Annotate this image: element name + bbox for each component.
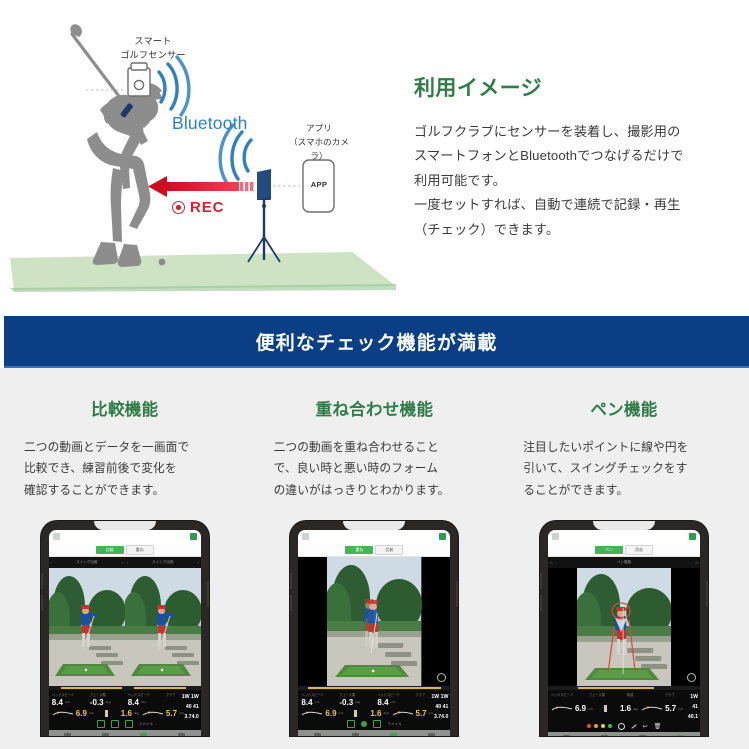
summary-club-value: 1W 1W: [182, 694, 199, 700]
volume-up-button-2[interactable]: [290, 573, 292, 589]
feature-1-line-3: の違いがはっきりとわかります。: [274, 484, 450, 497]
bottom-nav-overlay: [298, 730, 450, 736]
sensor-label-line1: スマート: [110, 34, 196, 48]
metric-cell-p-hs: 6.9 m/s: [548, 703, 593, 714]
video-icon-2[interactable]: [390, 733, 397, 736]
fullscreen-icon[interactable]: [125, 720, 133, 728]
status-bar-2: [298, 530, 450, 544]
feature-column-comparison: 比較機能 二つの動画とデータを一画面で 比較でき、練習前後で変化を 確認すること…: [0, 396, 250, 501]
status-bar-3: [548, 530, 700, 544]
overlay-mode-icon[interactable]: [361, 721, 367, 727]
metric-cell-p-face: 1.6 deg: [593, 703, 638, 714]
feature-1-line-1: 二つの動画を重ね合わせること: [274, 441, 439, 454]
volume-down-button[interactable]: [41, 595, 43, 611]
pen-tool-row: ↩ 🗑: [548, 721, 700, 732]
metric-value-hs-left: 8.4: [52, 698, 63, 707]
toggle-compare-on[interactable]: 比較: [96, 546, 124, 554]
page-title: 利用イメージ: [414, 72, 734, 102]
video-pen-clip[interactable]: [577, 568, 671, 686]
swing-path-graph-p1: [551, 704, 573, 713]
bottom-nav-pen: [548, 732, 700, 736]
mat-shape: [10, 252, 396, 292]
video-right[interactable]: [125, 568, 201, 686]
attack-angle-graph-p: [596, 704, 618, 713]
feature-0-line-1: 二つの動画とデータを一画面で: [24, 441, 189, 454]
intro-line-2: スマートフォンとBluetoothでつなげるだけで: [414, 148, 684, 163]
menu-icon-2[interactable]: [302, 533, 309, 540]
tools-icon[interactable]: [102, 733, 109, 736]
rec-indicator: REC: [172, 199, 224, 216]
summary-column-comparison: 1W 1W 40 41 3.74.0: [155, 693, 199, 723]
settings-icon-pen[interactable]: [687, 673, 696, 682]
banner-heading: 便利なチェック機能が満載: [256, 328, 498, 355]
volume-up-button-3[interactable]: [540, 573, 542, 589]
toggle-compare-off[interactable]: 重ね: [126, 545, 154, 555]
hero-section: スマート ゴルフセンサー Bluetooth アプリ （スマホのカメラ） APP…: [0, 0, 749, 300]
pen-color-swatches: [587, 724, 612, 728]
settings-icon-overlay[interactable]: [437, 673, 446, 682]
intro-block: 利用イメージ ゴルフクラブにセンサーを装着し、撮影用の スマートフォンとBlue…: [414, 72, 734, 242]
mode-toolbar-3: ペン 消去: [548, 544, 700, 557]
next-arrow-icon-2[interactable]: ›: [197, 560, 198, 565]
app-label: アプリ （スマホのカメラ）: [283, 122, 355, 163]
pen-color-red[interactable]: [587, 724, 591, 728]
metric-value-o-aoa: 1.6: [370, 709, 381, 718]
feature-column-pen: ペン機能 注目したいポイントに線や円を 引いて、スイングチェックをす ることがで…: [499, 396, 749, 501]
metric-unit-face: deg: [106, 700, 111, 704]
metric-value-face: -0.3: [90, 698, 104, 707]
rec-dot-icon: [172, 201, 185, 214]
tools-icon-3[interactable]: [601, 735, 608, 736]
metric-value-p-face: 1.6: [620, 704, 631, 713]
intro-line-5: （チェック）できます。: [414, 222, 559, 237]
phone-notch-2: [343, 521, 405, 530]
prev-arrow-icon-3[interactable]: ‹‹: [548, 560, 555, 565]
summary-smash-value: 3.74.0: [184, 714, 198, 720]
intro-paragraph: ゴルフクラブにセンサーを装着し、撮影用の スマートフォンとBluetoothでつ…: [414, 120, 734, 242]
phone-mockups: 比較 重ね ‹ スイング比較 › ‹ スイング比較: [0, 521, 749, 736]
pen-line-tool-icon[interactable]: [631, 724, 636, 729]
volume-up-button[interactable]: [41, 573, 43, 589]
tool-caption-2: ファイル: [387, 722, 401, 727]
metric-cell-o-hs-left: 8.4 m/s: [298, 697, 336, 708]
metric-cell-path-left: 6.9 m/s: [49, 708, 94, 719]
tool-caption: ファイル: [139, 722, 153, 727]
metrics-panel-overlay: ヘッドスピード フェース角 ヘッドスピード クラブ 8.4 m/s: [298, 690, 450, 719]
split-view-icon[interactable]: [97, 720, 105, 728]
feature-0-line-3: 確認することができます。: [24, 484, 164, 497]
phone-slot-overlay: 重ね 比較: [250, 521, 500, 736]
metric-unit-o-face: deg: [355, 700, 360, 704]
intro-line-1: ゴルフクラブにセンサーを装着し、撮影用の: [414, 124, 680, 139]
metric-unit-o-hs-right: m/s: [391, 700, 396, 704]
split-view-icon-2[interactable]: [347, 720, 355, 728]
summary-smash-2: 3.74.0: [404, 713, 448, 723]
fullscreen-icon-2[interactable]: [373, 720, 381, 728]
power-button-3[interactable]: [706, 581, 708, 607]
summary-distance-value: 40 41: [186, 704, 199, 710]
summary-distance-3: 41: [654, 703, 698, 713]
phone-notch-3: [593, 521, 655, 530]
feature-0-line-2: 比較でき、練習前後で変化を: [24, 462, 177, 475]
swing-path-graph-left: [52, 709, 74, 718]
summary-distance: 40 41: [155, 703, 199, 713]
summary-column-pen: 1W 41 40.1: [654, 693, 698, 723]
sensor-device: [86, 63, 150, 96]
pen-color-green[interactable]: [608, 724, 612, 728]
favorite-icon-2[interactable]: [428, 733, 435, 736]
power-button-2[interactable]: [456, 581, 458, 607]
metric-value-p-hs: 6.9: [575, 704, 586, 713]
metric-value-aoa: 1.6: [121, 709, 132, 718]
feature-columns: 比較機能 二つの動画とデータを一画面で 比較でき、練習前後で変化を 確認すること…: [0, 368, 749, 501]
feature-2-line-2: 引いて、スイングチェックをす: [523, 462, 687, 475]
metric-value-o-hs-right: 8.4: [377, 698, 388, 707]
summary-club-2: 1W 1W: [404, 693, 448, 703]
bottom-nav-comparison: [49, 730, 201, 736]
rec-label: REC: [190, 199, 224, 216]
swing-nav-strip: ‹ スイング比較 › ‹ スイング比較 ›: [49, 557, 201, 568]
toggle-pen-off[interactable]: 消去: [625, 545, 653, 555]
phone-screen-comparison: 比較 重ね ‹ スイング比較 › ‹ スイング比較: [49, 530, 201, 736]
metric-label-p0: ヘッドスピード: [548, 692, 586, 697]
feature-title-pen: ペン機能: [523, 396, 725, 420]
phone-screen-pen: ペン 消去 ‹‹ ペン機能 ››: [548, 530, 700, 736]
swing-nav-strip-3: ‹‹ ペン機能 ››: [548, 557, 700, 568]
feature-column-overlay: 重ね合わせ機能 二つの動画を重ね合わせること で、良い時と悪い時のフォーム の違…: [250, 396, 500, 501]
metric-value-hs-right: 8.4: [128, 698, 139, 707]
video-area-split[interactable]: [49, 568, 201, 686]
metrics-panel-comparison: ヘッドスピード フェース角 ヘッドスピード クラブ 8.4 m/s: [49, 690, 201, 719]
bluetooth-waves-sensor: [159, 57, 189, 115]
nav-title-pen: ペン機能: [555, 560, 694, 564]
mode-toolbar-2: 重ね 比較: [298, 544, 450, 557]
pen-undo-icon[interactable]: ↩: [643, 723, 648, 730]
toggle-pen-on[interactable]: ペン: [595, 546, 623, 554]
usage-diagram: スマート ゴルフセンサー Bluetooth アプリ （スマホのカメラ） APP…: [0, 0, 400, 300]
attack-angle-graph-o: [346, 709, 368, 718]
feature-body-overlay: 二つの動画を重ね合わせること で、良い時と悪い時のフォーム の違いがはっきりとわ…: [274, 437, 476, 501]
golf-ball: [159, 259, 166, 266]
sensor-label: スマート ゴルフセンサー: [110, 34, 196, 63]
metric-cell-o-face: -0.3 deg: [336, 697, 374, 708]
phone-pen: ペン 消去 ‹‹ ペン機能 ››: [540, 521, 708, 736]
battery-icon-3: [689, 533, 696, 540]
summary-smash-3: 40.1: [654, 713, 698, 723]
tools-icon-2[interactable]: [352, 733, 359, 736]
mode-toolbar: 比較 重ね: [49, 544, 201, 557]
metric-cell-hs-left: 8.4 m/s: [49, 697, 87, 708]
summary-distance-2: 40 41: [404, 703, 448, 713]
page-root: スマート ゴルフセンサー Bluetooth アプリ （スマホのカメラ） APP…: [0, 0, 749, 749]
battery-icon: [190, 533, 197, 540]
phone-notch: [94, 521, 156, 530]
intro-line-4: 一度セットすれば、自動で連続で記録・再生: [414, 197, 680, 212]
next-arrow-icon[interactable]: ›: [121, 560, 122, 565]
pen-color-yellow[interactable]: [601, 724, 605, 728]
video-area-pen[interactable]: [548, 568, 700, 686]
metric-unit-hs-right: m/s: [141, 700, 146, 704]
metric-unit-hs-left: m/s: [65, 700, 70, 704]
favorite-icon-3[interactable]: [677, 735, 684, 736]
phone-comparison: 比較 重ね ‹ スイング比較 › ‹ スイング比較: [41, 521, 209, 736]
summary-smash-value-2: 3.74.0: [434, 714, 448, 720]
metric-value-o-path-left: 6.9: [325, 709, 336, 718]
video-icon-3[interactable]: [639, 735, 646, 736]
feature-title-comparison: 比較機能: [24, 396, 226, 420]
feature-2-line-3: ることができます。: [523, 484, 628, 497]
toggle-overlay-off[interactable]: 比較: [375, 545, 403, 555]
battery-icon-2: [439, 533, 446, 540]
feature-1-line-2: で、良い時と悪い時のフォーム: [274, 462, 438, 475]
phone-slot-pen: ペン 消去 ‹‹ ペン機能 ››: [499, 521, 749, 736]
metric-cell-aoa: 1.6 deg: [94, 708, 139, 719]
pen-circle-tool-icon[interactable]: [618, 723, 625, 730]
nav-left-title: スイング比較: [52, 560, 121, 564]
metric-unit-o-hs-left: m/s: [315, 700, 320, 704]
feature-body-pen: 注目したいポイントに線や円を 引いて、スイングチェックをす ることができます。: [523, 437, 725, 501]
feature-title-overlay: 重ね合わせ機能: [274, 396, 476, 420]
volume-down-button-2[interactable]: [290, 595, 292, 611]
feature-body-comparison: 二つの動画とデータを一画面で 比較でき、練習前後で変化を 確認することができます…: [24, 437, 226, 501]
status-bar: [49, 530, 201, 544]
nav-right-title: スイング比較: [128, 560, 197, 564]
metric-value-o-face: -0.3: [339, 698, 353, 707]
bluetooth-label: Bluetooth: [172, 113, 248, 134]
summary-distance-value-2: 40 41: [435, 704, 448, 710]
summary-smash: 3.74.0: [155, 713, 199, 723]
bluetooth-waves-camera: [220, 125, 251, 185]
swing-path-graph-o-left: [301, 709, 323, 718]
summary-club-value-2: 1W 1W: [431, 694, 448, 700]
favorite-icon[interactable]: [178, 733, 185, 736]
video-left[interactable]: [49, 568, 125, 686]
phone-screen-overlay: 重ね 比較: [298, 530, 450, 736]
nav-left: ‹ スイング比較 ›: [49, 560, 125, 565]
banner-wrapper: 便利なチェック機能が満載: [0, 316, 749, 368]
next-arrow-icon-3[interactable]: ››: [693, 560, 700, 565]
summary-distance-value-3: 41: [692, 704, 698, 710]
power-button[interactable]: [207, 581, 209, 607]
attack-angle-graph: [97, 709, 119, 718]
video-overlay-clip[interactable]: [327, 557, 421, 686]
volume-down-button-3[interactable]: [540, 595, 542, 611]
metrics-panel-pen: ヘッドスピード フェース角 軌道 クラブ: [548, 690, 700, 721]
summary-club: 1W 1W: [155, 693, 199, 703]
home-icon[interactable]: [64, 733, 71, 736]
metric-cell-o-path-left: 6.9 m/s: [298, 708, 343, 719]
app-badge: APP: [308, 180, 330, 189]
phone-slot-comparison: 比較 重ね ‹ スイング比較 › ‹ スイング比較: [0, 521, 250, 736]
metric-cell-face: -0.3 deg: [87, 697, 125, 708]
app-label-line1: アプリ: [283, 122, 355, 136]
nav-right: ‹ スイング比較 ›: [125, 560, 201, 565]
toggle-overlay-on[interactable]: 重ね: [345, 546, 373, 554]
metric-label-p1: フェース角: [586, 692, 624, 697]
pen-delete-icon[interactable]: 🗑: [654, 723, 662, 730]
feature-2-line-1: 注目したいポイントに線や円を: [523, 441, 688, 454]
summary-club-value-3: 1W: [690, 694, 698, 700]
metric-cell-o-aoa: 1.6 deg: [343, 708, 388, 719]
summary-column-overlay: 1W 1W 40 41 3.74.0: [404, 693, 448, 723]
home-icon-3[interactable]: [563, 735, 570, 736]
metric-value-path-left: 6.9: [76, 709, 87, 718]
intro-line-3: 利用可能です。: [414, 173, 506, 188]
summary-club-3: 1W: [654, 693, 698, 703]
metric-value-o-hs-left: 8.4: [301, 698, 312, 707]
pen-color-orange[interactable]: [594, 724, 598, 728]
phone-overlay: 重ね 比較: [290, 521, 458, 736]
features-banner: 便利なチェック機能が満載: [4, 316, 749, 368]
video-icon[interactable]: [140, 733, 147, 736]
features-section: 比較機能 二つの動画とデータを一画面で 比較でき、練習前後で変化を 確認すること…: [0, 368, 749, 749]
flag-icon[interactable]: [111, 720, 119, 728]
video-area-overlay[interactable]: [298, 557, 450, 686]
sensor-label-line2: ゴルフセンサー: [110, 48, 196, 62]
menu-icon[interactable]: [53, 533, 60, 540]
summary-smash-value-3: 40.1: [688, 714, 698, 720]
app-label-line2: （スマホのカメラ）: [283, 136, 355, 164]
home-icon-2[interactable]: [314, 733, 321, 736]
menu-icon-3[interactable]: [552, 533, 559, 540]
